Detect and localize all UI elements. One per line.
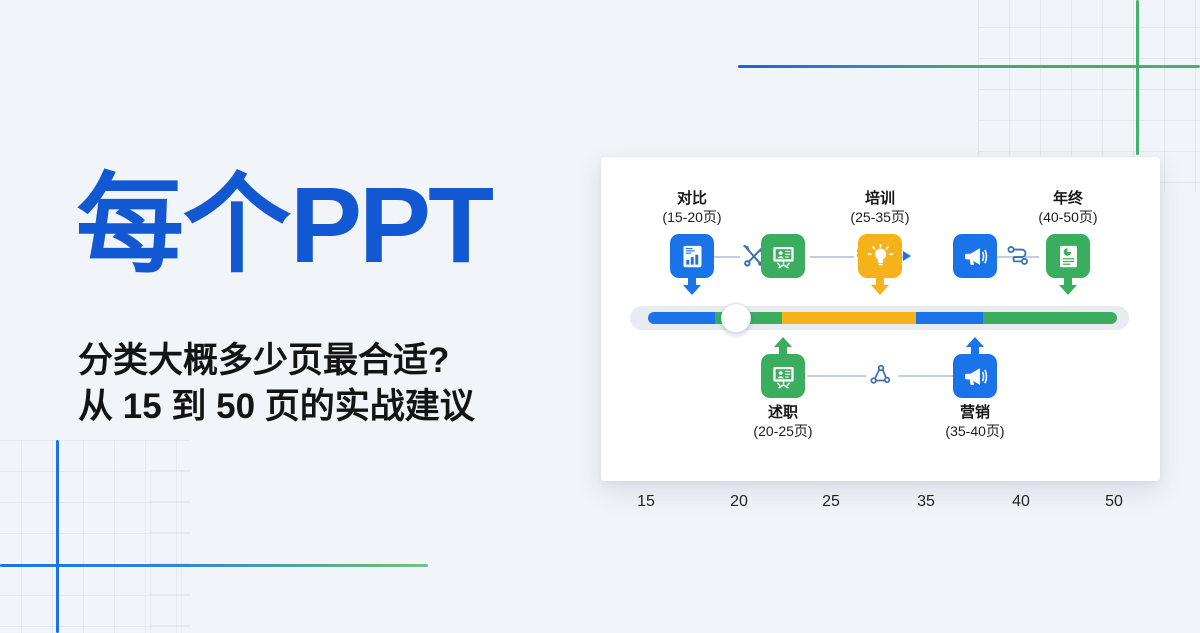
- slider-tick-40: 40: [1012, 493, 1030, 511]
- slider-tick-35: 35: [917, 493, 935, 511]
- tile-presentation[interactable]: [761, 234, 805, 278]
- node-label-peixun: 培训 (25-35页): [850, 189, 909, 227]
- connector-line-1: [714, 256, 740, 258]
- slider-tick-50: 50: [1105, 493, 1123, 511]
- node-label-yingxiao: 营销 (35-40页): [945, 403, 1004, 441]
- node-label-nianzhong: 年终 (40-50页): [1038, 189, 1097, 227]
- mini-icon-route: [1004, 243, 1032, 269]
- node-name: 年终: [1038, 189, 1097, 208]
- page-title-latin: PPT: [290, 164, 491, 285]
- mini-icon-flow: [868, 363, 894, 389]
- report-document-icon: [1055, 243, 1082, 270]
- node-name: 述职: [753, 403, 812, 422]
- node-range: (15-20页): [662, 208, 721, 227]
- decor-line-bottom-vertical: [56, 440, 59, 633]
- slider-tick-25: 25: [822, 493, 840, 511]
- slider-segment-duibi: [648, 312, 715, 324]
- arrowhead-icon: [903, 251, 913, 261]
- subtitle-line-2: 从 15 到 50 页的实战建议: [78, 384, 598, 430]
- presentation-board-icon: [770, 243, 797, 270]
- route-flow-icon: [1004, 243, 1032, 269]
- slider-tick-20: 20: [730, 493, 748, 511]
- flow-nodes-icon: [868, 363, 894, 389]
- megaphone-icon: [962, 363, 989, 390]
- slider-segment-peixun: [782, 312, 916, 324]
- node-name: 培训: [850, 189, 909, 208]
- node-name: 营销: [945, 403, 1004, 422]
- infographic-card: 对比 (15-20页) 培训 (25-35页) 年终 (40-50页): [601, 157, 1160, 481]
- page-subtitle: 分类大概多少页最合适? 从 15 到 50 页的实战建议: [78, 338, 598, 430]
- tile-bar-chart[interactable]: [670, 234, 714, 278]
- tile-report[interactable]: [1046, 234, 1090, 278]
- tile-lightbulb[interactable]: [858, 234, 902, 278]
- page-title-cjk: 每个: [76, 164, 290, 285]
- node-range: (35-40页): [945, 422, 1004, 441]
- connector-line-3: [810, 256, 854, 258]
- arrow-down-green: [1058, 273, 1078, 295]
- megaphone-icon: [962, 243, 989, 270]
- tile-megaphone-top[interactable]: [953, 234, 997, 278]
- decor-line-top-vertical: [1136, 0, 1139, 155]
- connector-line-7: [807, 375, 866, 377]
- lightbulb-icon: [867, 243, 894, 270]
- node-range: (40-50页): [1038, 208, 1097, 227]
- node-label-shuzhi: 述职 (20-25页): [753, 403, 812, 441]
- connector-line-8: [898, 375, 959, 377]
- arrow-down-blue: [682, 273, 702, 295]
- slider-tick-15: 15: [637, 493, 655, 511]
- node-range: (25-35页): [850, 208, 909, 227]
- slider-segment-yingxiao: [916, 312, 983, 324]
- subtitle-line-1: 分类大概多少页最合适?: [78, 338, 598, 384]
- tile-person-board[interactable]: [761, 354, 805, 398]
- decor-line-top-horizontal: [738, 65, 1200, 68]
- person-board-icon: [770, 363, 797, 390]
- slider-knob[interactable]: [721, 303, 751, 333]
- bar-chart-icon: [679, 243, 706, 270]
- decor-grid-bottom-left-2: [150, 470, 190, 633]
- node-label-duibi: 对比 (15-20页): [662, 189, 721, 227]
- decor-grid-bottom-left: [0, 440, 190, 633]
- page-title: 每个PPT: [76, 171, 491, 279]
- arrow-down-yellow: [870, 273, 890, 295]
- decor-line-bottom-horizontal: [0, 564, 428, 567]
- poster-canvas: 每个PPT 分类大概多少页最合适? 从 15 到 50 页的实战建议 对比 (1…: [0, 0, 1200, 633]
- tile-megaphone-bottom[interactable]: [953, 354, 997, 398]
- node-range: (20-25页): [753, 422, 812, 441]
- slider-segment-nianzhong: [983, 312, 1117, 324]
- slider-fill: [648, 312, 1117, 324]
- node-name: 对比: [662, 189, 721, 208]
